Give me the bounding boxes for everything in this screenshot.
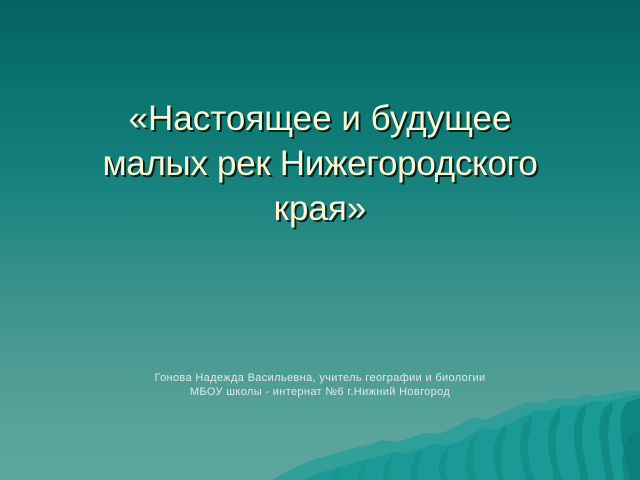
subtitle-line-2: МБОУ школы - интернат №6 г.Нижний Новгор… (0, 385, 640, 399)
subtitle-line-1: Гонова Надежда Васильевна, учитель геогр… (0, 371, 640, 385)
ridge-striations (331, 398, 640, 480)
title-line-2: малых рек Нижегородского (0, 141, 640, 186)
mountain-ridge-icon (0, 390, 640, 480)
slide-subtitle: Гонова Надежда Васильевна, учитель геогр… (0, 371, 640, 399)
ridge-layer-back (272, 390, 640, 480)
slide-title: «Настоящее и будущее малых рек Нижегород… (0, 96, 640, 231)
title-line-1: «Настоящее и будущее (0, 96, 640, 141)
ridge-layer-mid (302, 394, 640, 480)
ridge-layer-front (622, 430, 640, 480)
presentation-slide: «Настоящее и будущее малых рек Нижегород… (0, 0, 640, 480)
title-line-3: края» (0, 186, 640, 231)
